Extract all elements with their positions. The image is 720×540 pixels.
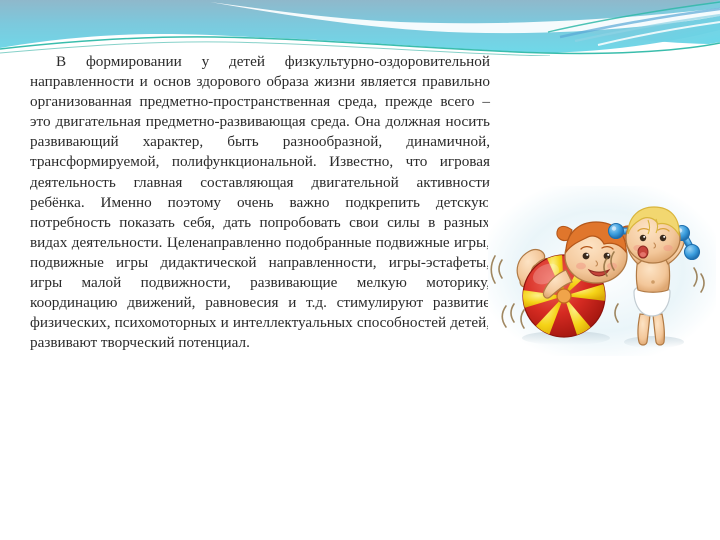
decorative-header-band [0,0,720,56]
boy-head [626,207,680,263]
body-paragraph: В формировании у детей физкультурно-оздо… [30,52,490,353]
illustration-two-babies-exercising [488,186,716,356]
boy-eye-right [660,235,666,241]
ball-center-boss [557,289,571,303]
slide-body-text: В формировании у детей физкультурно-оздо… [30,52,490,353]
girl-eye-left [583,253,590,260]
presentation-slide: В формировании у детей физкультурно-оздо… [0,0,720,540]
boy-navel [651,280,655,284]
boy-eye-left [640,235,646,241]
boy-ground-shadow [624,336,684,348]
